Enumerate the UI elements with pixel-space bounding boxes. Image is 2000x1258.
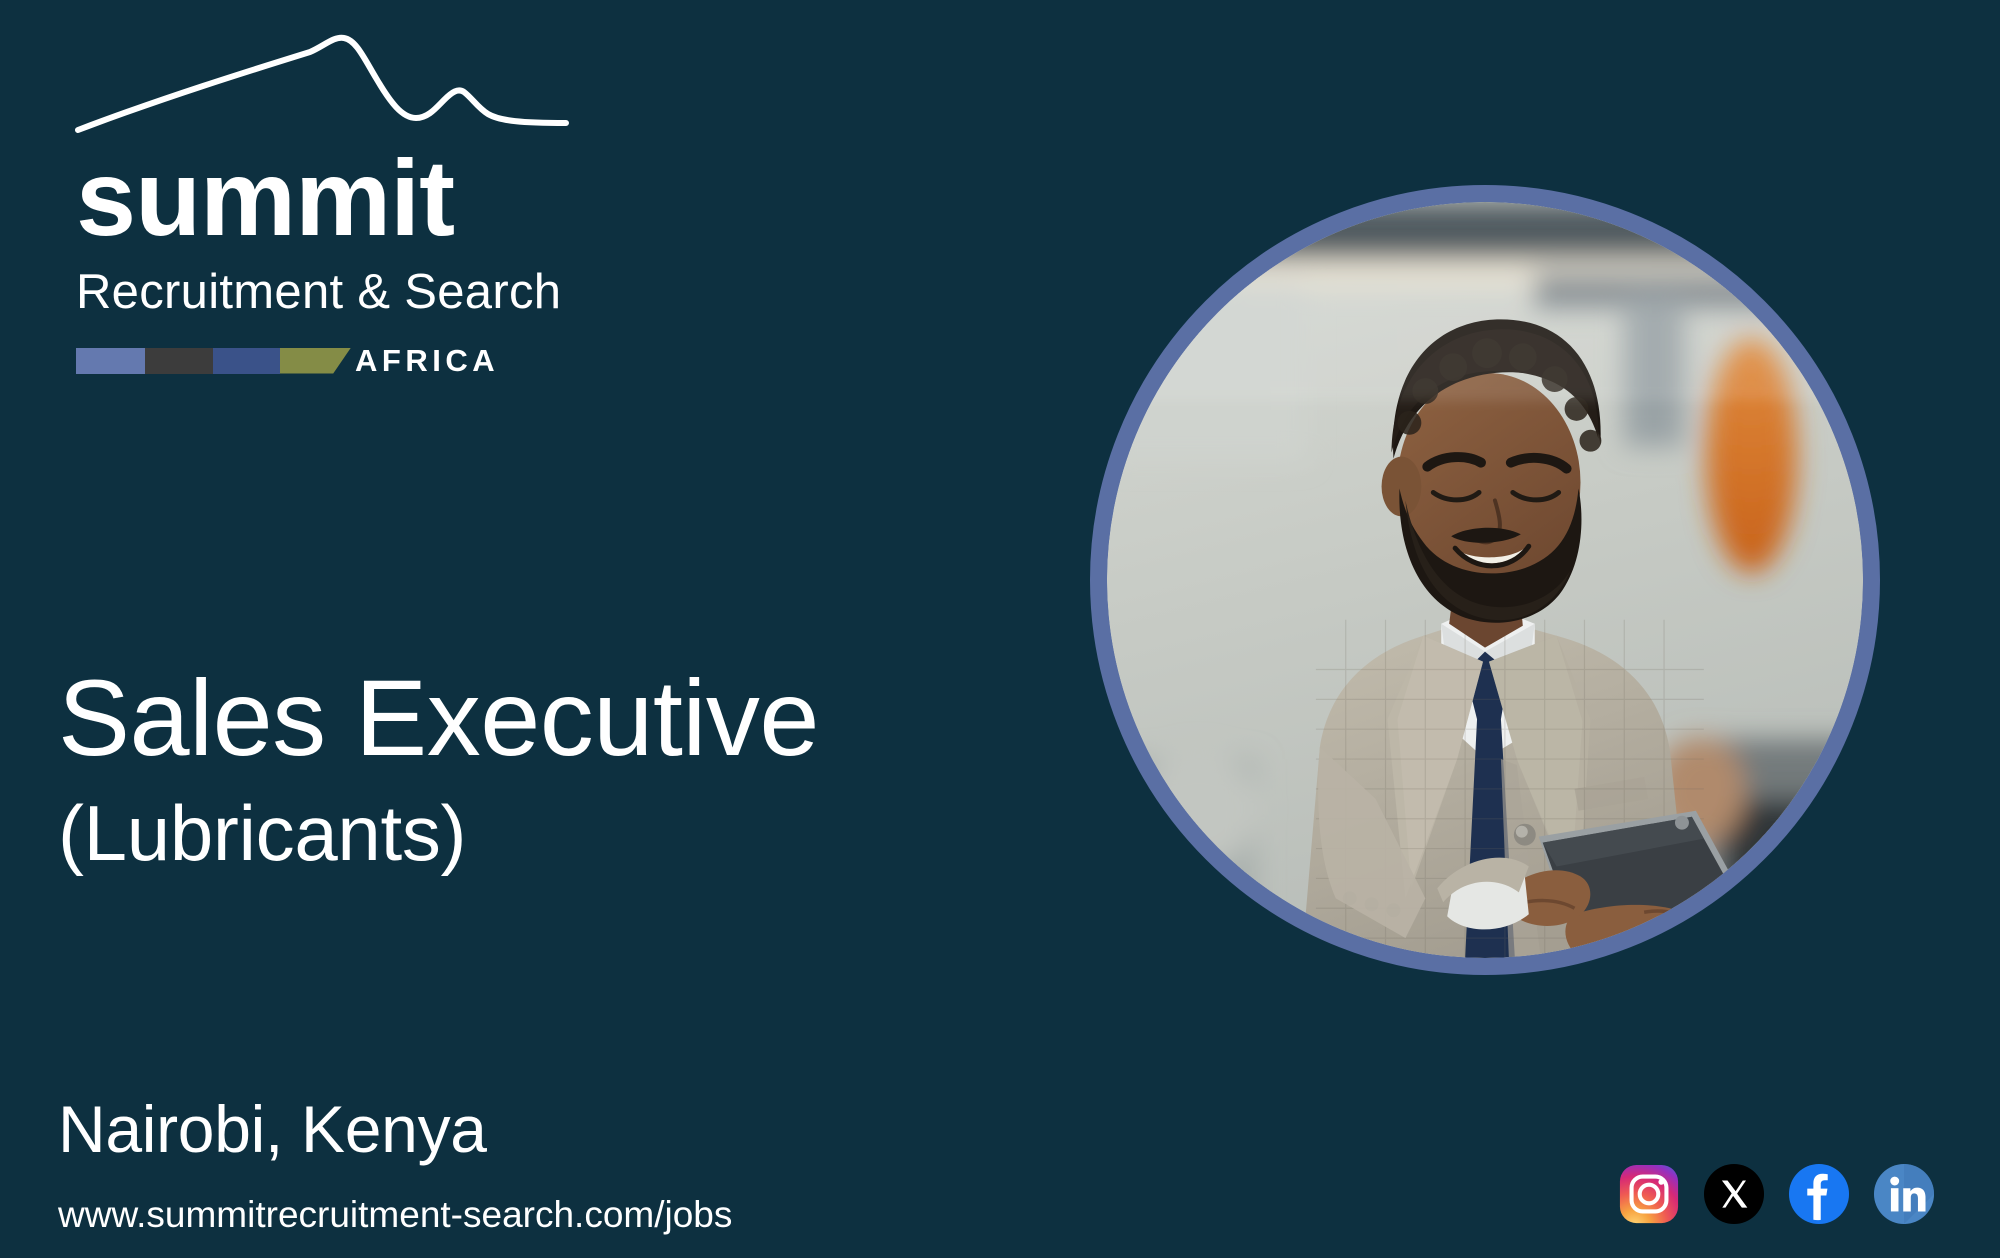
linkedin-icon[interactable] bbox=[1873, 1163, 1935, 1225]
job-subtitle: (Lubricants) bbox=[58, 787, 1038, 881]
brand-wordmark: summit bbox=[76, 144, 612, 252]
summit-logo[interactable]: summit Recruitment & Search AFRICA bbox=[72, 26, 612, 376]
job-location: Nairobi, Kenya bbox=[58, 1096, 487, 1162]
instagram-icon[interactable] bbox=[1618, 1163, 1680, 1225]
social-links[interactable] bbox=[1618, 1163, 1935, 1225]
candidate-photo-ring bbox=[1090, 185, 1880, 975]
brand-tagline: Recruitment & Search bbox=[76, 268, 612, 317]
mountain-outline-icon bbox=[72, 26, 572, 136]
brand-color-bar-row: AFRICA bbox=[76, 345, 612, 376]
color-bar-segment-3 bbox=[213, 348, 280, 374]
x-twitter-icon[interactable] bbox=[1703, 1163, 1765, 1225]
facebook-icon[interactable] bbox=[1788, 1163, 1850, 1225]
website-url[interactable]: www.summitrecruitment-search.com/jobs bbox=[58, 1196, 732, 1233]
candidate-photo-illustration bbox=[1107, 202, 1863, 958]
color-bar-segment-4 bbox=[280, 348, 351, 374]
region-label: AFRICA bbox=[355, 345, 499, 376]
color-bar-segment-2 bbox=[145, 348, 212, 374]
color-bar-segment-1 bbox=[76, 348, 145, 374]
job-headline: Sales Executive (Lubricants) bbox=[58, 660, 1038, 880]
brand-color-bar bbox=[76, 348, 351, 374]
job-title: Sales Executive bbox=[58, 660, 1038, 777]
job-advert-poster: summit Recruitment & Search AFRICA Sales… bbox=[0, 0, 2000, 1258]
candidate-photo bbox=[1107, 202, 1863, 958]
